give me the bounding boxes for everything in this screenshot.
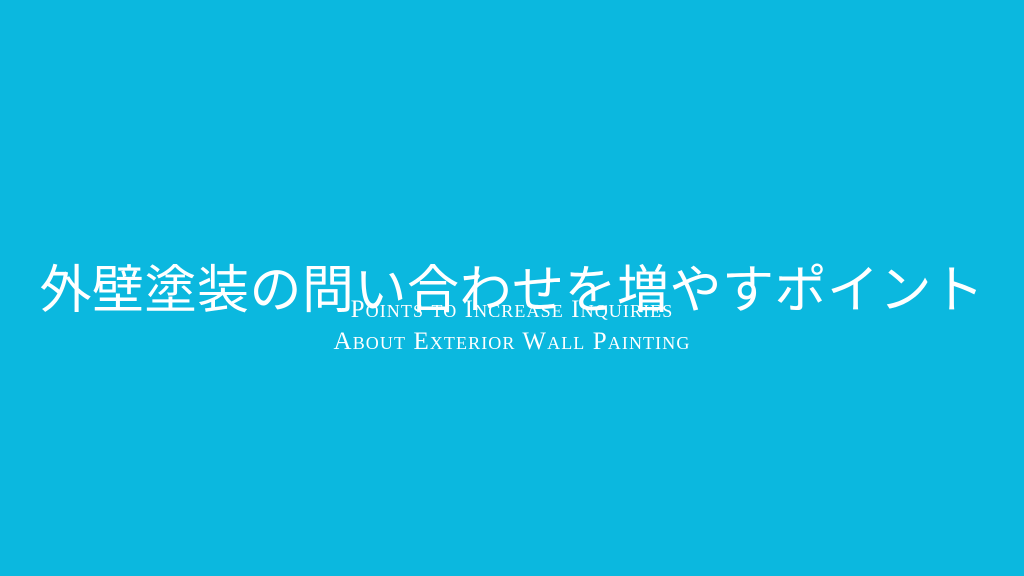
subtitle-group: Points to Increase Inquiries About Exter… [0,294,1024,358]
title-slide: 外壁塗装の問い合わせを増やすポイント Points to Increase In… [0,0,1024,576]
subtitle-line-1: Points to Increase Inquiries [0,294,1024,326]
subtitle-line-2: About Exterior Wall Painting [0,326,1024,358]
